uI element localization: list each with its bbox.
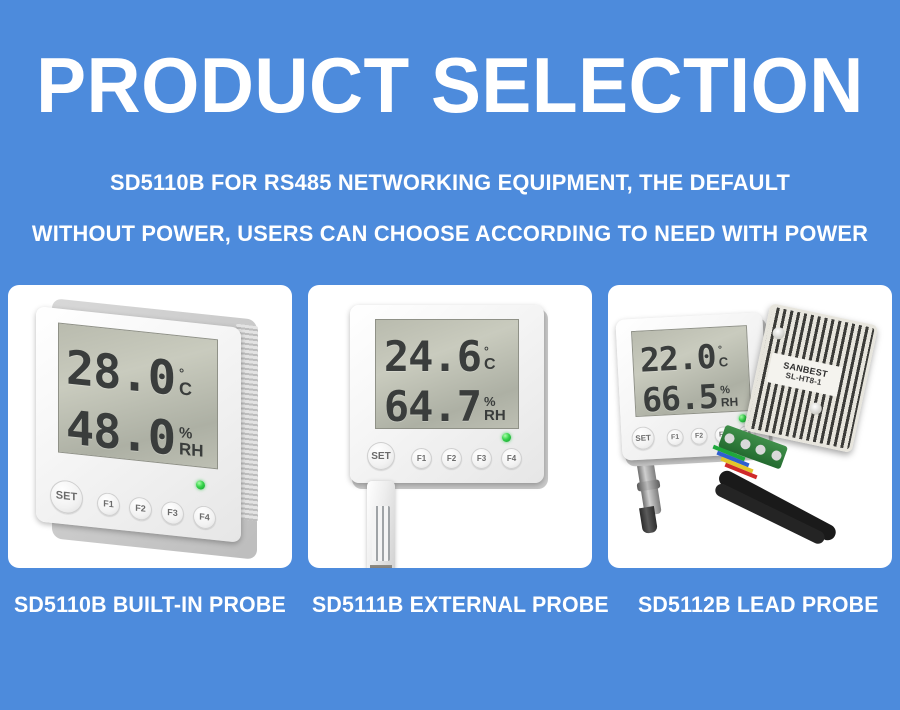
page-title: PRODUCT SELECTION — [18, 46, 882, 124]
f3-button[interactable]: F3 — [471, 448, 492, 469]
f2-button[interactable]: F2 — [441, 448, 462, 469]
power-led-icon — [196, 480, 205, 490]
f1-button[interactable]: F1 — [97, 491, 120, 516]
f1-button[interactable]: F1 — [411, 448, 432, 469]
product-photo-sd5112b: 22.0 ° C 66.5 % RH — [608, 285, 892, 568]
lcd-screen: 28.0 ° C 48.0 % RH — [58, 323, 218, 470]
terminal-screw — [739, 438, 752, 451]
caption-sd5110b: SD5110B BUILT-IN PROBE — [14, 592, 286, 618]
product-selection-banner: PRODUCT SELECTION SD5110B FOR RS485 NETW… — [0, 0, 900, 710]
f4-button[interactable]: F4 — [193, 504, 216, 529]
probe-tip — [370, 565, 392, 568]
product-photo-sd5111b: 24.6 ° C 64.7 % RH — [308, 285, 592, 568]
temperature-unit: C — [718, 355, 728, 368]
caption-sd5111b: SD5111B EXTERNAL PROBE — [312, 592, 609, 618]
external-probe — [367, 481, 395, 568]
set-button[interactable]: SET — [631, 426, 655, 450]
device-front-face: 24.6 ° C 64.7 % RH — [350, 305, 544, 483]
probe-slits — [372, 506, 390, 561]
terminal-screw — [723, 432, 736, 445]
lcd-screen: 22.0 ° C 66.5 % RH — [631, 325, 751, 417]
product-card-sd5111b[interactable]: 24.6 ° C 64.7 % RH — [308, 285, 592, 568]
subtitle-line-2: WITHOUT POWER, USERS CAN CHOOSE ACCORDIN… — [14, 221, 887, 247]
humidity-value: 66.5 — [637, 382, 718, 415]
lcd-screen: 24.6 ° C 64.7 % RH — [375, 319, 519, 429]
f4-button[interactable]: F4 — [501, 448, 522, 469]
humidity-value: 48.0 — [63, 408, 175, 460]
caption-sd5112b: SD5112B LEAD PROBE — [638, 592, 879, 618]
device-front-face: 28.0 ° C 48.0 % RH — [36, 306, 241, 543]
set-button[interactable]: SET — [50, 478, 83, 514]
product-card-sd5112b[interactable]: 22.0 ° C 66.5 % RH — [608, 285, 892, 568]
product-card-sd5110b[interactable]: 28.0 ° C 48.0 % RH — [8, 285, 292, 568]
f2-button[interactable]: F2 — [690, 427, 708, 445]
f3-button[interactable]: F3 — [161, 500, 184, 525]
temperature-unit: C — [179, 379, 192, 398]
humidity-unit: RH — [721, 396, 739, 409]
temperature-value: 24.6 — [379, 339, 481, 375]
terminal-screw — [754, 443, 767, 456]
f2-button[interactable]: F2 — [129, 496, 152, 521]
humidity-unit: RH — [484, 408, 506, 423]
subtitle-line-1: SD5110B FOR RS485 NETWORKING EQUIPMENT, … — [14, 170, 887, 196]
humidity-value: 64.7 — [379, 389, 481, 425]
humidity-unit: RH — [179, 440, 204, 460]
f1-button[interactable]: F1 — [666, 429, 684, 447]
terminal-screw — [770, 449, 783, 462]
temperature-unit: C — [484, 357, 496, 373]
product-photo-sd5110b: 28.0 ° C 48.0 % RH — [8, 285, 292, 568]
set-button[interactable]: SET — [367, 442, 395, 470]
